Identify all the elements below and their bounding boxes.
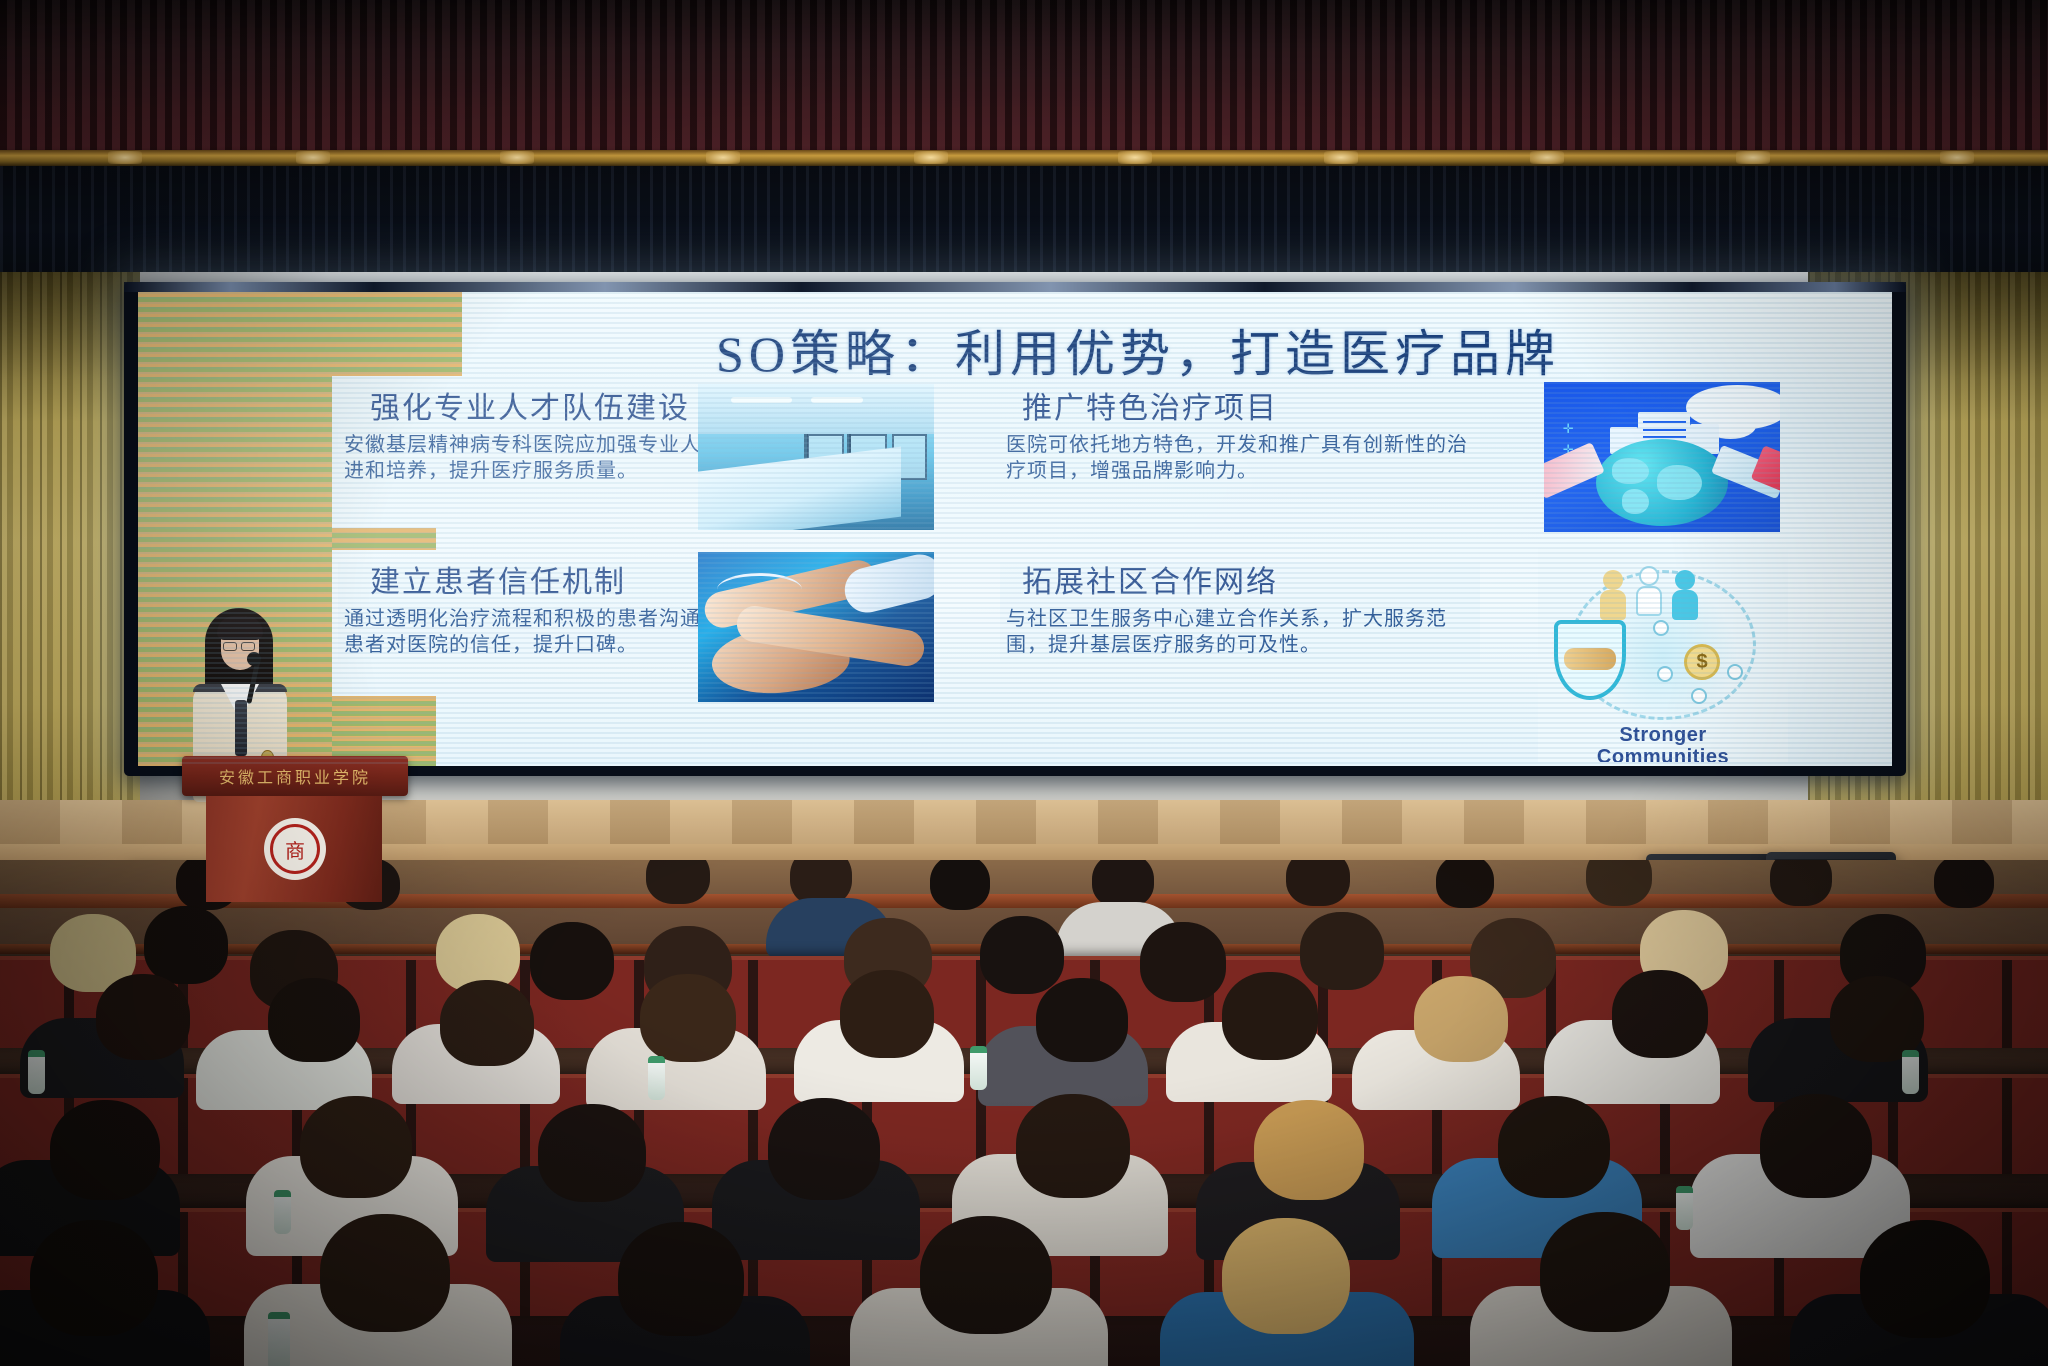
audience-head	[50, 1100, 160, 1200]
person-head	[1639, 566, 1659, 586]
rail-light	[914, 151, 948, 164]
pill-blister-pack	[1544, 442, 1604, 499]
podium-institution-text: 安徽工商职业学院	[182, 764, 408, 788]
audience-head	[1222, 972, 1318, 1060]
person-body	[1636, 586, 1662, 616]
landmass	[1612, 458, 1649, 484]
landmass	[1657, 465, 1702, 500]
person-figure-cyan	[1672, 570, 1698, 620]
building-window-row	[1643, 429, 1685, 431]
audience-head	[1414, 976, 1508, 1062]
audience-head-front	[618, 1222, 744, 1336]
illustration-title: Stronger Communities	[1538, 724, 1788, 762]
audience-head-front	[920, 1216, 1052, 1334]
audience-head	[1036, 978, 1128, 1062]
audience-head-front	[1860, 1220, 1990, 1338]
audience-head	[1140, 922, 1226, 1002]
ceiling-light	[811, 397, 863, 403]
landmass	[1622, 489, 1648, 513]
slide-block-top-right: 推广特色治疗项目 医院可依托地方特色，开发和推广具有创新性的治疗项目，增强品牌影…	[1000, 388, 1480, 488]
rail-light	[1324, 151, 1358, 164]
audience-head	[930, 860, 990, 910]
person-head	[1691, 688, 1707, 704]
water-bottle	[1676, 1186, 1693, 1230]
slide-block-bottom-right: 拓展社区合作网络 与社区卫生服务中心建立合作关系，扩大服务范围，提升基层医疗服务…	[1000, 562, 1480, 662]
audience-head	[300, 1096, 412, 1198]
audience-head	[440, 980, 534, 1066]
audience-head	[1770, 860, 1832, 906]
rail-light	[1736, 151, 1770, 164]
counter-photo-render	[698, 384, 934, 530]
audience-head	[1254, 1100, 1364, 1200]
audience-area	[0, 860, 2048, 1366]
audience-head	[1612, 970, 1708, 1058]
presentation-slide: SO策略：利用优势，打造医疗品牌 强化专业人才队伍建设 安徽基层精神病专科医院应…	[138, 292, 1892, 766]
rail-light	[1940, 151, 1974, 164]
person-head	[1653, 620, 1669, 636]
audience-head	[1586, 860, 1652, 906]
water-bottle	[1902, 1050, 1919, 1094]
person-head	[1657, 666, 1673, 682]
person-figure-yellow	[1600, 570, 1626, 620]
audience-head	[980, 916, 1064, 994]
audience-head-front	[1222, 1218, 1350, 1334]
mini-person	[1688, 688, 1710, 704]
stage-curtain-left	[0, 272, 140, 872]
photo-hospital-counter	[698, 384, 934, 530]
person-body	[1672, 590, 1698, 620]
block-heading: 推广特色治疗项目	[1006, 392, 1474, 427]
audience-head	[1300, 912, 1384, 990]
audience-head	[1934, 860, 1994, 908]
photo-medical-treatment-hands	[698, 552, 934, 702]
screen-bezel-highlight	[124, 282, 1906, 292]
ceiling-light	[731, 397, 792, 403]
audience-head	[1436, 860, 1494, 908]
audience-head	[768, 1098, 880, 1200]
medical-cross-icon: ✛	[1563, 421, 1574, 437]
pelmet-folds	[0, 166, 2048, 280]
rail-light	[1118, 151, 1152, 164]
person-head	[1675, 570, 1695, 590]
podium-top: 安徽工商职业学院	[182, 756, 408, 796]
person-head	[1727, 664, 1743, 680]
audience-head	[1760, 1094, 1872, 1198]
audience-head	[1016, 1094, 1130, 1198]
audience-head-front	[1540, 1212, 1670, 1332]
emblem-inner: 商	[270, 824, 320, 874]
audience-head	[640, 974, 736, 1062]
treatment-photo-render	[698, 552, 934, 702]
person-figure-white	[1636, 566, 1662, 616]
audience-head	[538, 1104, 646, 1202]
mini-person	[1650, 620, 1672, 636]
dark-pelmet	[0, 166, 2048, 280]
globe	[1596, 439, 1728, 526]
audience-head	[1498, 1096, 1610, 1198]
audience-head	[96, 974, 190, 1060]
audience-head	[646, 860, 710, 904]
building-window-row	[1643, 436, 1685, 438]
audience-head	[530, 922, 614, 1000]
eyeglasses-left	[223, 642, 237, 651]
audience-head	[268, 978, 360, 1062]
audience-head	[1092, 860, 1154, 908]
building-window-row	[1643, 421, 1685, 423]
audience-head	[144, 906, 228, 984]
person-body	[1600, 590, 1626, 620]
auditorium-scene: SO策略：利用优势，打造医疗品牌 强化专业人才队伍建设 安徽基层精神病专科医院应…	[0, 0, 2048, 1366]
handshake-icon	[1564, 648, 1616, 670]
communities-illustration: $ Stronger Communities EDITABLE STROKE	[1538, 548, 1788, 762]
person-head	[1603, 570, 1623, 590]
microphone-icon	[247, 652, 261, 666]
globe-illustration: ✛ ✛	[1544, 382, 1780, 532]
rail-light	[1530, 151, 1564, 164]
audience-head	[1286, 860, 1350, 906]
water-bottle	[970, 1046, 987, 1090]
block-heading: 拓展社区合作网络	[1006, 566, 1474, 601]
audience-head-front	[30, 1220, 158, 1336]
podium: 安徽工商职业学院 商	[200, 756, 390, 902]
audience-head-front	[320, 1214, 450, 1332]
necktie	[235, 700, 247, 756]
audience-head	[840, 970, 934, 1058]
rail-light	[500, 151, 534, 164]
water-bottle	[268, 1312, 290, 1366]
water-bottle	[274, 1190, 291, 1234]
school-emblem: 商	[264, 818, 326, 880]
photo-ceiling	[698, 384, 934, 434]
block-body: 医院可依托地方特色，开发和推广具有创新性的治疗项目，增强品牌影响力。	[1006, 431, 1474, 484]
mini-person	[1654, 666, 1676, 682]
illustration-global-healthcare: ✛ ✛	[1544, 382, 1780, 532]
rail-light	[706, 151, 740, 164]
illustration-stronger-communities: $ Stronger Communities EDITABLE STROKE	[1538, 548, 1788, 762]
rail-light	[108, 151, 142, 164]
presenter-fringe	[217, 616, 263, 640]
block-body: 与社区卫生服务中心建立合作关系，扩大服务范围，提升基层医疗服务的可及性。	[1006, 605, 1474, 658]
slide-title: SO策略：利用优势，打造医疗品牌	[438, 314, 1838, 386]
water-bottle	[648, 1056, 665, 1100]
water-bottle	[28, 1050, 45, 1094]
cable	[717, 573, 802, 606]
coin-icon: $	[1684, 644, 1720, 680]
rail-light	[296, 151, 330, 164]
eyeglasses-right	[241, 642, 255, 651]
counter-surface	[698, 447, 901, 530]
slide-accent-arm-mid	[332, 528, 436, 550]
mini-person	[1724, 664, 1746, 680]
